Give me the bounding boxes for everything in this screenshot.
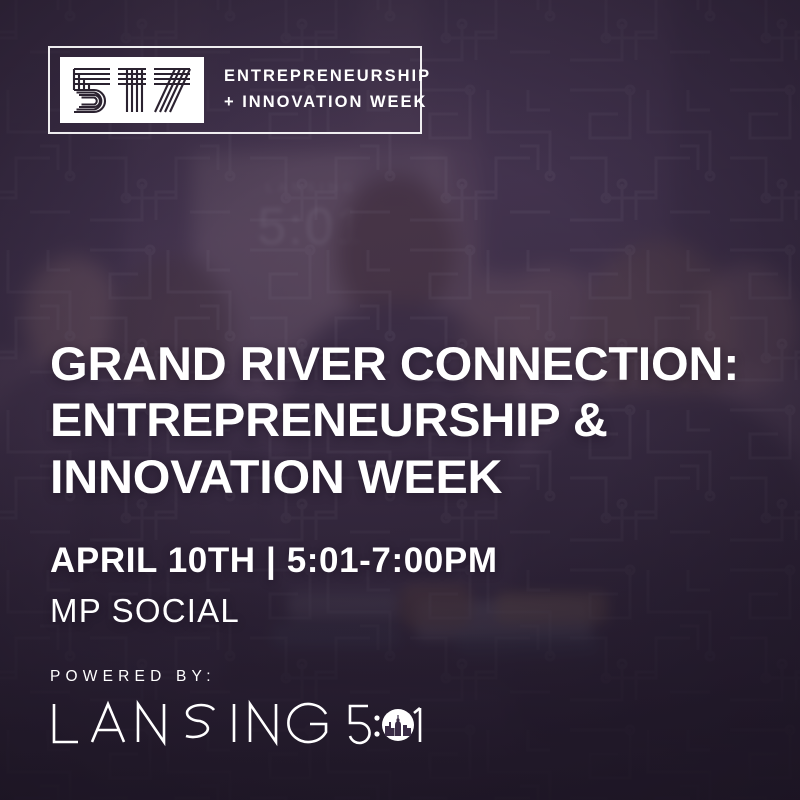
517-logo-mark <box>60 57 204 123</box>
event-date-time: APRIL 10TH | 5:01-7:00PM <box>50 541 498 581</box>
event-poster: LANSING 5:01 <box>0 0 800 800</box>
powered-by-label: POWERED BY: <box>50 668 216 686</box>
lansing-501-logo <box>48 697 428 753</box>
colon-dots <box>374 715 379 736</box>
event-headline: GRAND RIVER CONNECTION: ENTREPRENEURSHIP… <box>50 336 792 505</box>
headline-line-1: GRAND RIVER CONNECTION: <box>50 336 792 392</box>
lansing-501-wordmark-icon <box>48 698 428 752</box>
poster-content: ENTREPRENEURSHIP + INNOVATION WEEK GRAND… <box>0 0 800 800</box>
badge-line-1: ENTREPRENEURSHIP <box>224 64 431 90</box>
event-badge: ENTREPRENEURSHIP + INNOVATION WEEK <box>48 46 422 134</box>
badge-text-block: ENTREPRENEURSHIP + INNOVATION WEEK <box>224 64 431 115</box>
event-venue: MP SOCIAL <box>50 592 240 630</box>
badge-line-2: + INNOVATION WEEK <box>224 90 431 116</box>
city-skyline-circle-icon <box>382 709 414 741</box>
517-striped-numerals-icon <box>70 64 194 116</box>
headline-line-3: INNOVATION WEEK <box>50 449 792 505</box>
headline-line-2: ENTREPRENEURSHIP & <box>50 392 792 448</box>
